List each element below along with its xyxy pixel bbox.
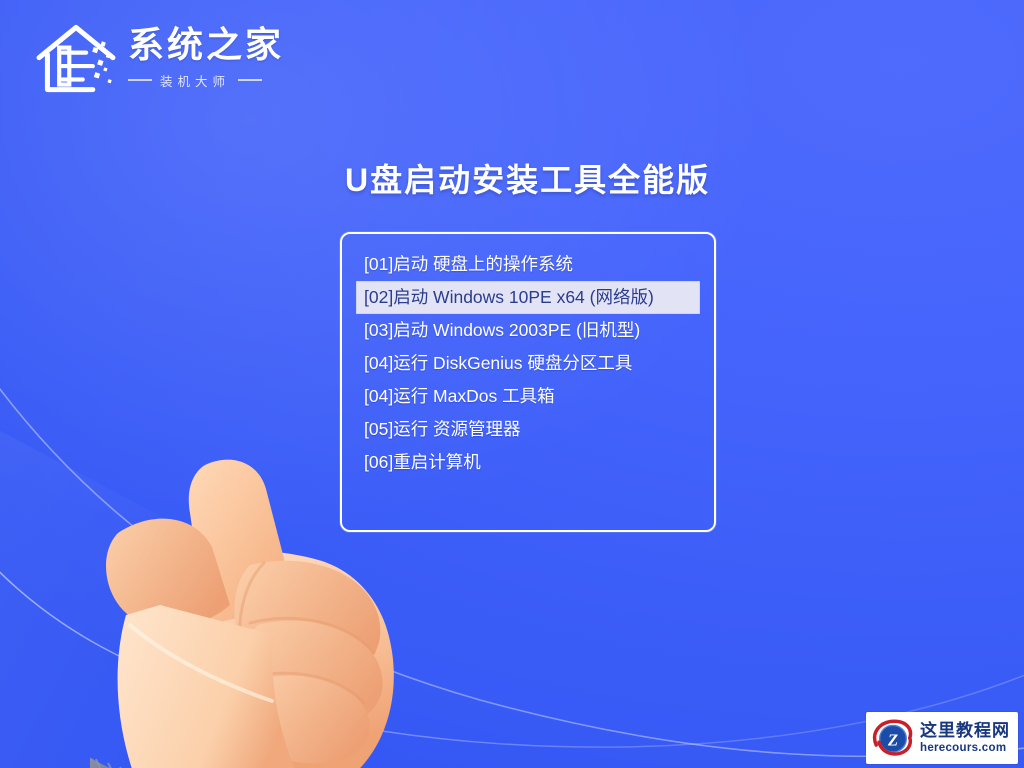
menu-item-04-diskgenius[interactable]: [04]运行 DiskGenius 硬盘分区工具 [356, 347, 700, 380]
svg-text:Z: Z [887, 731, 898, 750]
menu-item-06[interactable]: [06]重启计算机 [356, 446, 700, 479]
brand-logo: 系统之家 装机大师 [34, 14, 284, 98]
tagline-dash-left [128, 79, 152, 81]
menu-item-05[interactable]: [05]运行 资源管理器 [356, 413, 700, 446]
z-circle-logo-icon: Z [872, 717, 914, 759]
menu-item-01[interactable]: [01]启动 硬盘上的操作系统 [356, 248, 700, 281]
page-title: U盘启动安装工具全能版 [345, 155, 865, 201]
menu-item-04-maxdos[interactable]: [04]运行 MaxDos 工具箱 [356, 380, 700, 413]
brand-tagline: 装机大师 [128, 71, 284, 90]
brand-tagline-text: 装机大师 [160, 71, 230, 90]
boot-menu-list: [01]启动 硬盘上的操作系统 [02]启动 Windows 10PE x64 … [342, 248, 714, 479]
menu-item-02[interactable]: [02]启动 Windows 10PE x64 (网络版) [356, 281, 700, 314]
watermark-site-url: herecours.com [920, 743, 1010, 755]
boot-menu-box: [01]启动 硬盘上的操作系统 [02]启动 Windows 10PE x64 … [340, 232, 716, 532]
menu-item-03[interactable]: [03]启动 Windows 2003PE (旧机型) [356, 314, 700, 347]
boot-menu-screen: 系统之家 装机大师 U盘启动安装工具全能版 [01]启动 硬盘上的操作系统 [0… [0, 0, 1024, 768]
brand-name: 系统之家 [128, 26, 284, 64]
house-chip-logo-icon [34, 14, 118, 98]
tagline-dash-right [238, 79, 262, 81]
background-light-band [0, 250, 278, 768]
site-watermark: Z 这里教程网 herecours.com [866, 712, 1018, 764]
watermark-site-name: 这里教程网 [920, 722, 1010, 739]
